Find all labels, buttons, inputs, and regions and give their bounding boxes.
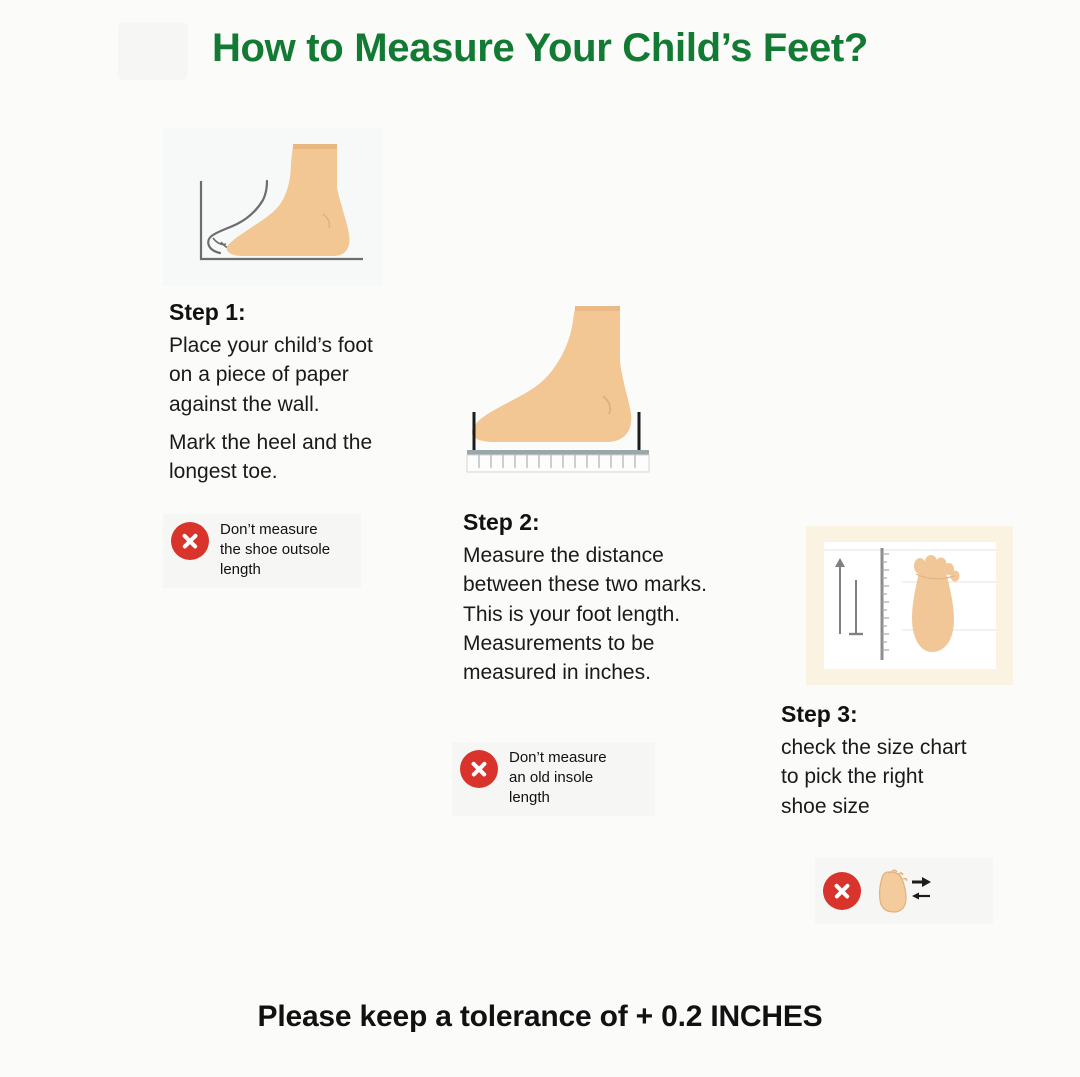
foot-width-arrows-glyph — [872, 864, 934, 916]
warning-2-line-2: an old insole — [509, 768, 607, 788]
step-3-line-2: to pick the right — [781, 762, 1031, 791]
tolerance-footer: Please keep a tolerance of + 0.2 INCHES — [0, 1000, 1080, 1034]
warning-1-line-2: the shoe outsole — [220, 540, 330, 560]
step-2-text-block: Step 2: Measure the distance between the… — [463, 508, 793, 688]
step-1-illustration — [163, 128, 383, 286]
step-1-line-6: longest toe. — [169, 457, 419, 486]
step-2-line-5: measured in inches. — [463, 658, 793, 687]
foot-on-ruler-with-marks-icon — [455, 300, 680, 480]
step-3-heading: Step 3: — [781, 700, 1031, 729]
warning-3 — [815, 858, 993, 924]
step-1-line-5: Mark the heel and the — [169, 428, 419, 457]
warning-1: Don’t measure the shoe outsole length — [163, 514, 361, 588]
step-2-heading: Step 2: — [463, 508, 793, 537]
step-3-line-1: check the size chart — [781, 733, 1031, 762]
foot-with-arrows-icon — [872, 864, 934, 916]
step-3-text-block: Step 3: check the size chart to pick the… — [781, 700, 1031, 821]
step-3-line-3: shoe size — [781, 792, 1031, 821]
step-1-line-2: on a piece of paper — [169, 360, 419, 389]
step-2-line-4: Measurements to be — [463, 629, 793, 658]
warning-1-line-3: length — [220, 560, 330, 580]
step-1-heading: Step 1: — [169, 298, 419, 327]
step-1-spacer — [169, 419, 419, 428]
page-title: How to Measure Your Child’s Feet? — [0, 26, 1080, 71]
step-3-illustration — [806, 526, 1013, 685]
foot-side-view-against-wall-icon — [163, 128, 383, 286]
warning-1-text: Don’t measure the shoe outsole length — [220, 520, 330, 580]
red-circle-x-icon — [460, 750, 498, 788]
step-2-line-3: This is your foot length. — [463, 600, 793, 629]
red-circle-x-icon — [823, 872, 861, 910]
warning-2: Don’t measure an old insole length — [452, 742, 655, 816]
step-2-illustration — [455, 300, 680, 480]
red-circle-x-icon — [171, 522, 209, 560]
warning-1-line-1: Don’t measure — [220, 520, 330, 540]
warning-2-line-3: length — [509, 788, 607, 808]
step-2-line-2: between these two marks. — [463, 570, 793, 599]
infographic-canvas: How to Measure Your Child’s Feet? Step 1… — [0, 0, 1080, 1077]
foot-sole-with-vertical-ruler-icon — [824, 542, 996, 669]
warning-2-text: Don’t measure an old insole length — [509, 748, 607, 808]
step-2-line-1: Measure the distance — [463, 541, 793, 570]
warning-2-line-1: Don’t measure — [509, 748, 607, 768]
step-1-line-3: against the wall. — [169, 390, 419, 419]
step-1-text-block: Step 1: Place your child’s foot on a pie… — [169, 298, 419, 487]
step-3-card — [824, 542, 996, 669]
step-1-line-1: Place your child’s foot — [169, 331, 419, 360]
